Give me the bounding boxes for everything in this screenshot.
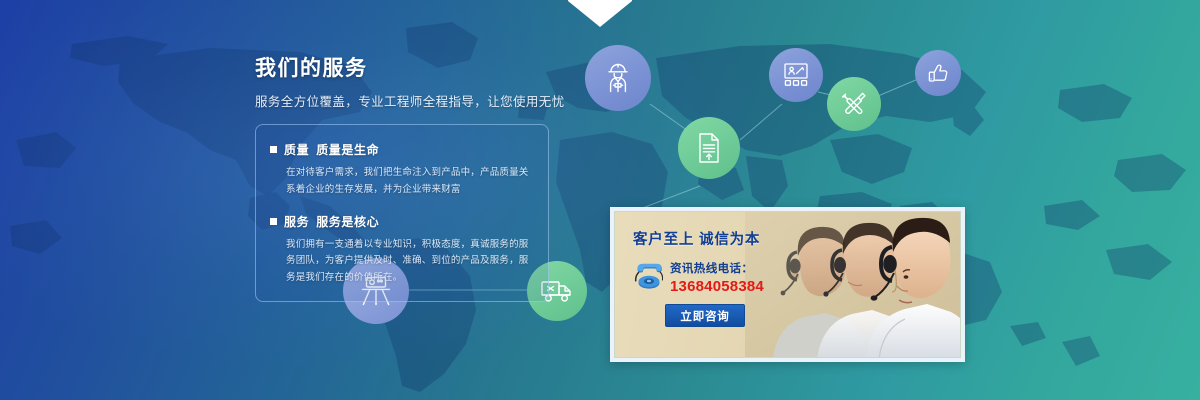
telephone-icon bbox=[633, 262, 663, 290]
promo-headline: 客户至上 诚信为本 bbox=[633, 228, 813, 249]
hotline-number: 13684058384 bbox=[670, 278, 764, 295]
document-upload-icon bbox=[694, 132, 724, 164]
diagram-node-maintenance[interactable] bbox=[827, 77, 881, 131]
bullet-square-icon bbox=[270, 146, 277, 153]
hotline-label: 资讯热线电话： bbox=[670, 260, 764, 276]
promo-banner[interactable]: 客户至上 诚信为本 资讯热线电话： 136840583 bbox=[610, 207, 965, 362]
wrench-hammer-icon bbox=[840, 90, 868, 118]
consult-now-button[interactable]: 立即咨询 bbox=[665, 304, 745, 327]
service-block-quality-heading: 质量 质量是生命 bbox=[270, 141, 534, 158]
service-block-service-heading: 服务 服务是核心 bbox=[270, 213, 534, 230]
diagram-node-document[interactable] bbox=[678, 117, 740, 179]
services-card: 质量 质量是生命 在对待客户需求，我们把生命注入到产品中，产品质量关系着企业的生… bbox=[255, 124, 549, 302]
service-block-quality-body: 在对待客户需求，我们把生命注入到产品中，产品质量关系着企业的生存发展，并为企业带… bbox=[286, 165, 534, 198]
diagram-node-satisfaction[interactable] bbox=[915, 50, 961, 96]
services-text-column: 我们的服务 服务全方位覆盖，专业工程师全程指导，让您使用无忧 质量 质量是生命 … bbox=[255, 56, 555, 302]
presentation-board-icon bbox=[782, 62, 810, 88]
page-subtitle: 服务全方位覆盖，专业工程师全程指导，让您使用无忧 bbox=[255, 91, 555, 110]
diagram-node-engineer[interactable] bbox=[585, 45, 651, 111]
bullet-square-icon bbox=[270, 218, 277, 225]
service-heading: 质量是生命 bbox=[316, 141, 379, 158]
page-title: 我们的服务 bbox=[255, 56, 555, 82]
our-services-section: 我们的服务 服务全方位覆盖，专业工程师全程指导，让您使用无忧 质量 质量是生命 … bbox=[0, 0, 1200, 400]
service-tag: 服务 bbox=[284, 213, 309, 230]
thumbs-up-hand-icon bbox=[926, 61, 950, 85]
hotline-lines: 资讯热线电话： 13684058384 bbox=[670, 259, 764, 295]
service-block-quality: 质量 质量是生命 在对待客户需求，我们把生命注入到产品中，产品质量关系着企业的生… bbox=[270, 141, 534, 198]
service-block-service-body: 我们拥有一支通着以专业知识，积极态度，真诚服务的服务团队，为客户提供及时、准确、… bbox=[286, 237, 534, 287]
worker-helmet-icon bbox=[601, 61, 635, 95]
promo-text-group: 客户至上 诚信为本 资讯热线电话： 136840583 bbox=[633, 228, 813, 327]
service-tag: 质量 bbox=[284, 141, 309, 158]
promo-banner-inner: 客户至上 诚信为本 资讯热线电话： 136840583 bbox=[614, 211, 961, 358]
service-block-service: 服务 服务是核心 我们拥有一支通着以专业知识，积极态度，真诚服务的服务团队，为客… bbox=[270, 213, 534, 287]
service-heading: 服务是核心 bbox=[316, 213, 379, 230]
hotline-row: 资讯热线电话： 13684058384 bbox=[633, 259, 813, 295]
diagram-node-training[interactable] bbox=[769, 48, 823, 102]
